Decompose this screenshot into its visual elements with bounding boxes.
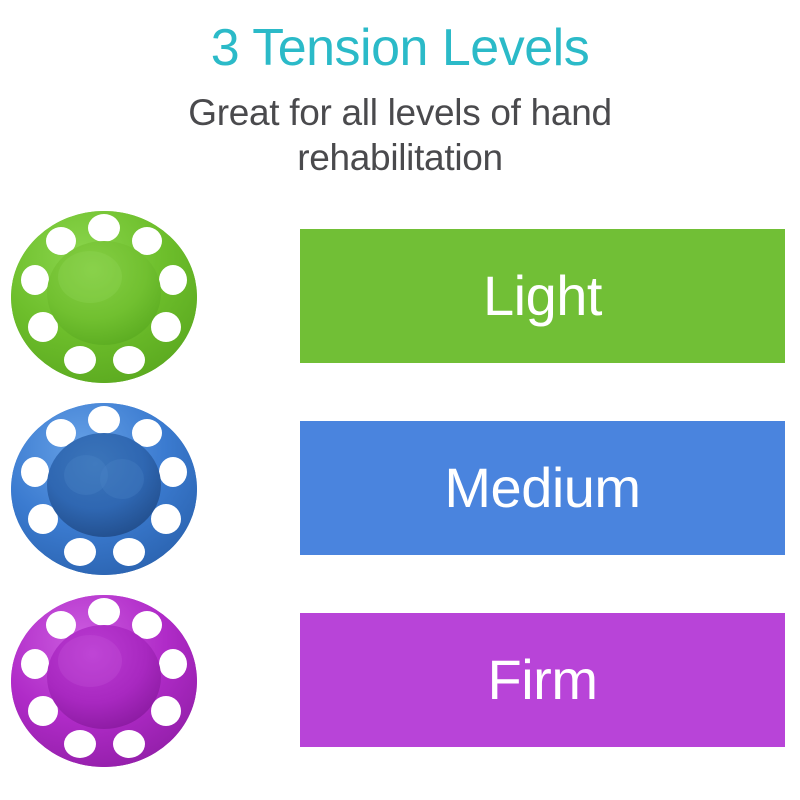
tension-level-bar[interactable]: Light [300, 229, 785, 363]
tension-level-bar[interactable]: Medium [300, 421, 785, 555]
blue-tension-disc-icon [8, 397, 200, 579]
disc-cell [0, 584, 300, 776]
disc-cell [0, 200, 300, 392]
green-tension-disc-icon [8, 205, 200, 387]
tension-level-label: Medium [444, 459, 640, 517]
tension-level-row: Medium [0, 392, 800, 584]
page-title: 3 Tension Levels [0, 18, 800, 78]
purple-tension-disc-icon [8, 589, 200, 771]
tension-level-row: Light [0, 200, 800, 392]
disc-cell [0, 392, 300, 584]
header: 3 Tension Levels Great for all levels of… [0, 18, 800, 180]
tension-level-label: Firm [488, 651, 598, 709]
infographic-canvas: 3 Tension Levels Great for all levels of… [0, 0, 800, 800]
page-subtitle: Great for all levels of hand rehabilitat… [0, 90, 800, 180]
tension-level-row: Firm [0, 584, 800, 776]
tension-level-bar[interactable]: Firm [300, 613, 785, 747]
tension-level-label: Light [483, 267, 602, 325]
tension-level-list: Light [0, 200, 800, 776]
